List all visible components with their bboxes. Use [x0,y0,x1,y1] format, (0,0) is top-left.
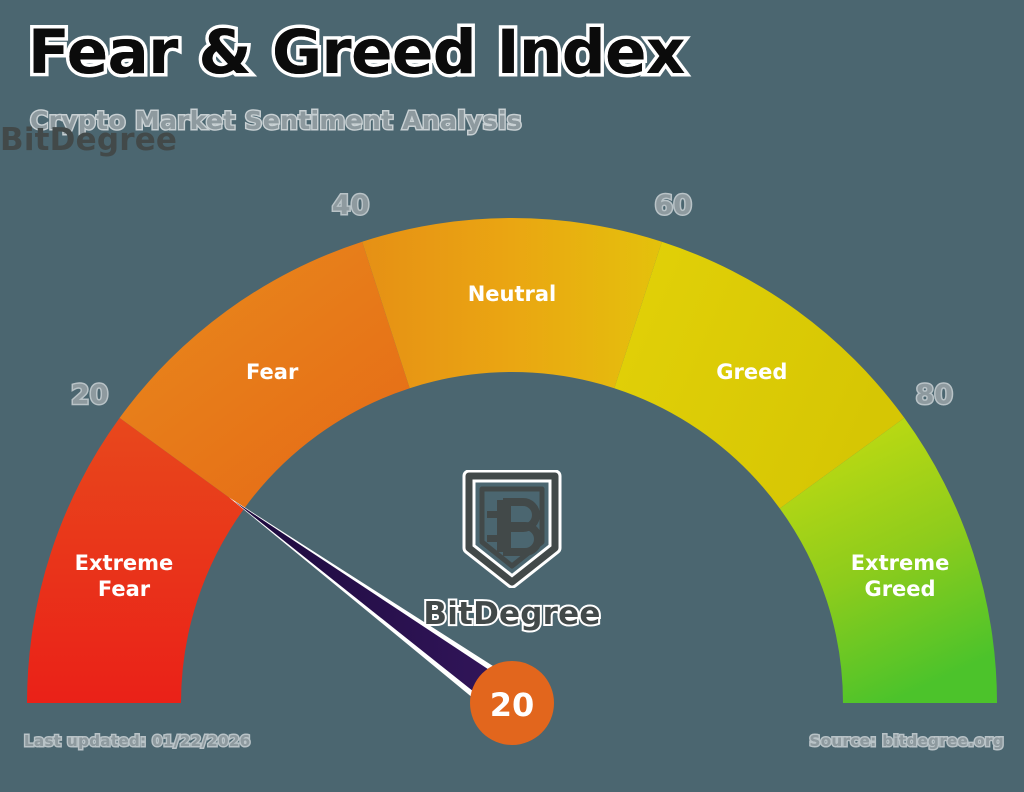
last-updated-text: Last updated: 01/22/2026 [24,732,251,750]
segment-label-greed: Greed [716,360,787,384]
tick-label-80: 80 [916,380,954,411]
tick-label-40: 40 [332,190,370,221]
fear-greed-index-infographic: Fear & Greed Index Fear & Greed Index Cr… [0,0,1024,792]
fear-greed-gauge: ExtremeFearFearNeutralGreedExtremeGreed … [0,0,1024,792]
brand-name: BitDegree [0,122,1024,158]
segment-label-fear: Fear [246,360,299,384]
gauge-value-text: 20 [490,686,535,724]
source-text: Source: bitdegree.org [810,732,1004,750]
tick-label-60: 60 [655,190,693,221]
segment-label-neutral: Neutral [468,282,557,306]
tick-label-20: 20 [71,380,109,411]
gauge-value-hub: 20 [470,661,554,745]
